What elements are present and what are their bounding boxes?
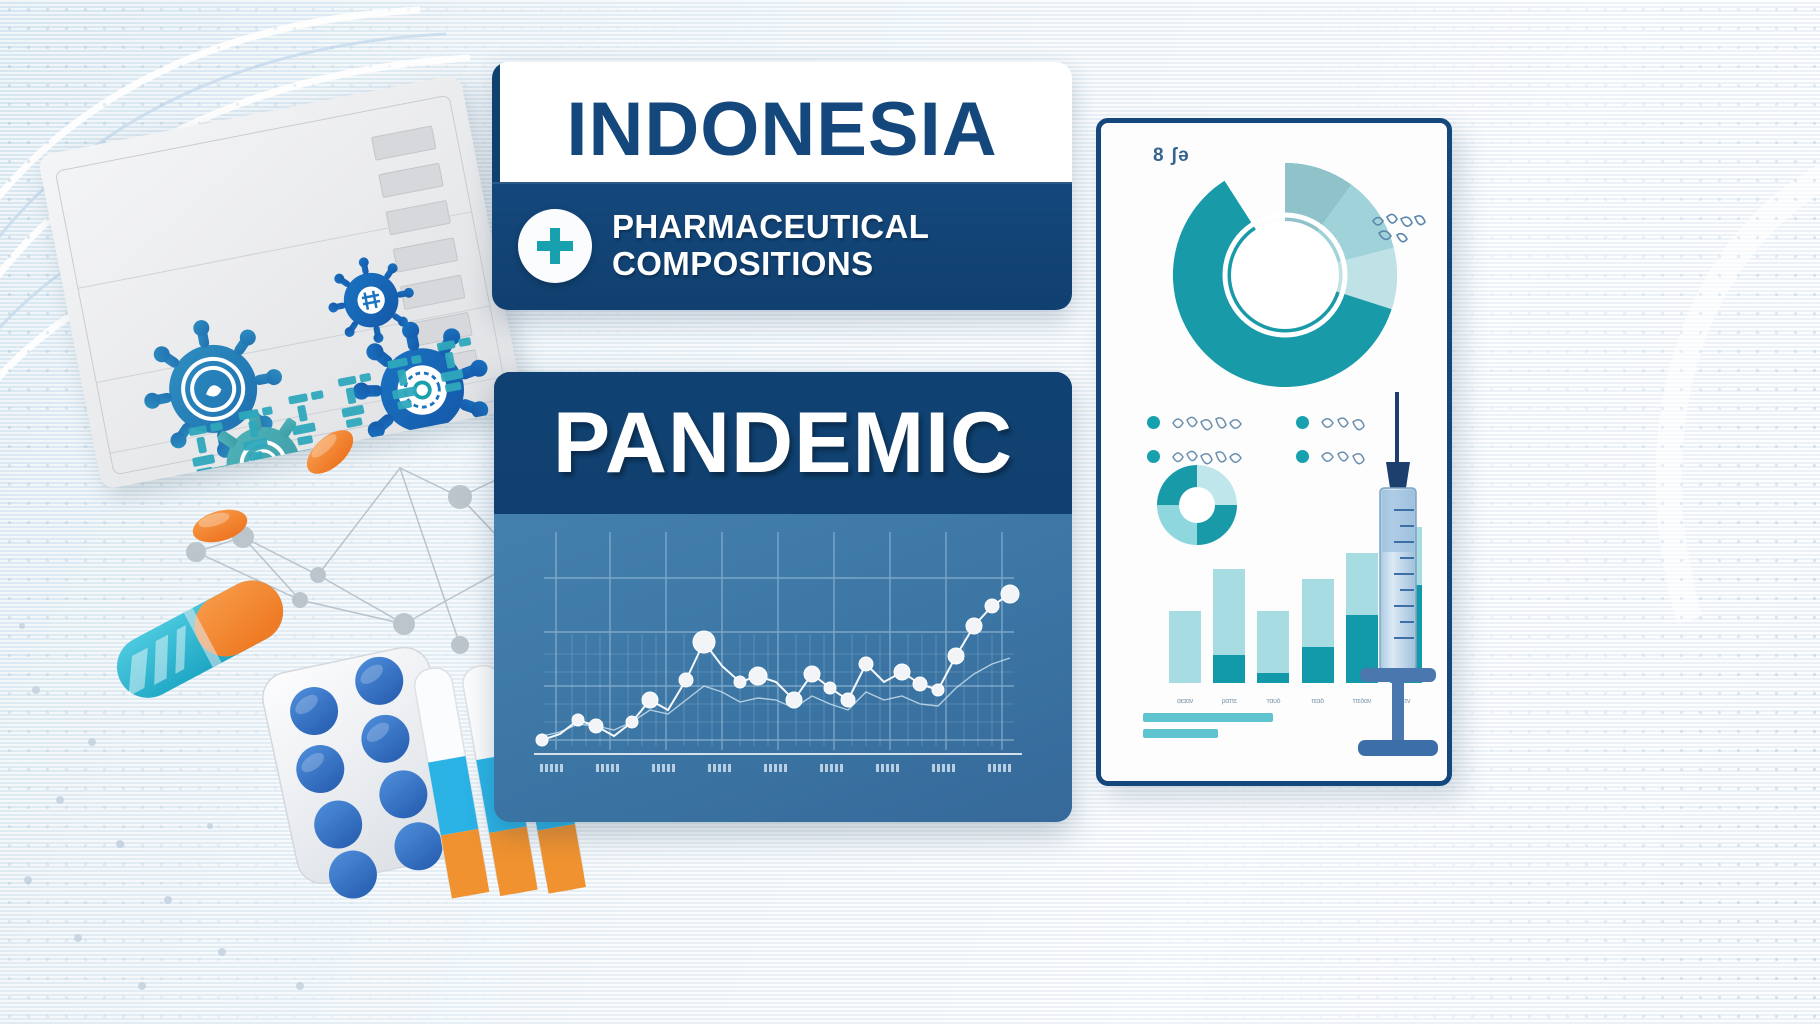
bar-tick-label: ραττε	[1213, 698, 1245, 705]
subtitle-text: PHARMACEUTICAL COMPOSITIONS	[612, 209, 929, 283]
progress-bar-1	[1143, 713, 1273, 722]
main-donut-chart	[1145, 155, 1425, 395]
bar-tick-label: ɑєɪαν	[1169, 698, 1201, 705]
legend-label	[1169, 413, 1253, 431]
progress-bar-2	[1143, 729, 1218, 738]
bar-column	[1213, 569, 1245, 683]
bar-column	[1302, 579, 1334, 683]
bar-tick-label: тαυδ	[1257, 698, 1289, 705]
subtitle-band: PHARMACEUTICAL COMPOSITIONS	[492, 182, 1072, 310]
loose-tablet-orange	[189, 504, 251, 548]
subtitle-line-1: PHARMACEUTICAL	[612, 209, 929, 246]
donut-value-label	[1367, 211, 1437, 251]
pandemic-card: PANDEMIC	[494, 372, 1072, 822]
pandemic-line-chart	[494, 514, 1072, 822]
page-title: INDONESIA	[492, 72, 1072, 187]
indonesia-headline-card: INDONESIA PHARMACEUTICAL COMPOSITIONS	[492, 62, 1072, 310]
progress-bar-group	[1143, 713, 1273, 745]
bar-tick-label: τεαδ	[1302, 698, 1334, 705]
loose-tablets	[180, 420, 420, 620]
loose-tablet-orange	[299, 422, 361, 482]
medical-cross-icon	[518, 209, 592, 283]
pandemic-title: PANDEMIC	[553, 394, 1013, 493]
bar-column	[1169, 611, 1201, 683]
legend-color-swatch	[1296, 416, 1309, 429]
legend-color-swatch	[1147, 416, 1160, 429]
syringe-icon	[1338, 392, 1458, 772]
pandemic-header: PANDEMIC	[494, 372, 1072, 514]
subtitle-line-2: COMPOSITIONS	[612, 246, 929, 283]
infographic-banner: INDONESIA PHARMACEUTICAL COMPOSITIONS PA…	[0, 0, 1820, 1024]
pandemic-chart-area	[494, 514, 1072, 822]
legend-item	[1147, 413, 1278, 431]
bar-column	[1257, 611, 1289, 683]
legend-color-swatch	[1296, 450, 1309, 463]
